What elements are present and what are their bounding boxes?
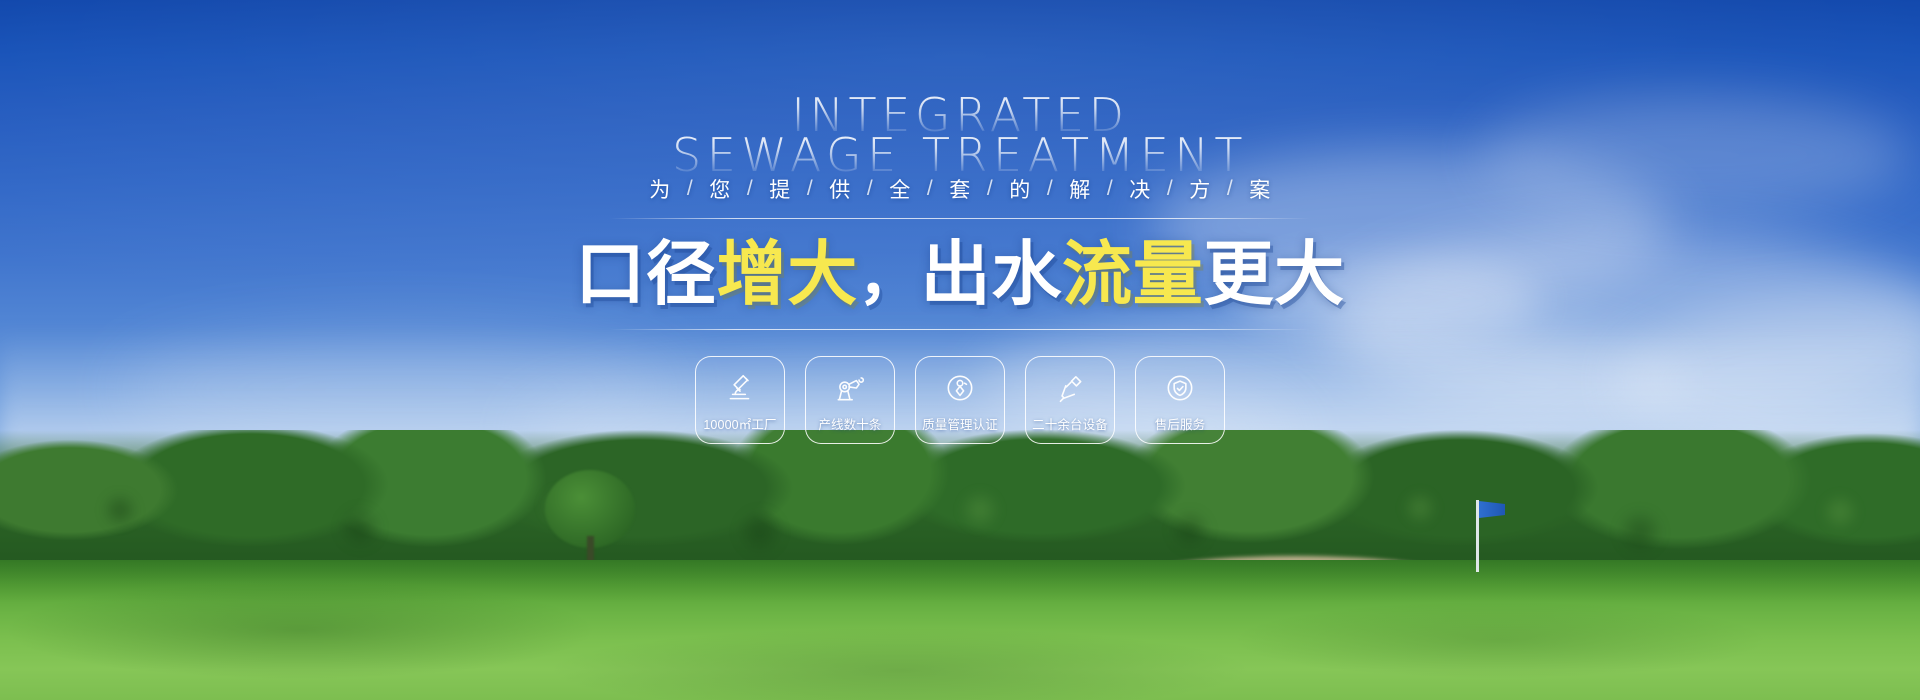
feature-badge-2[interactable]: 产线数十条 (805, 356, 895, 444)
feature-badge-1[interactable]: 10000㎡工厂 (695, 356, 785, 444)
feature-badge-4[interactable]: 二十余台设备 (1025, 356, 1115, 444)
hero-banner: INTEGRATED SEWAGE TREATMENT 为/您/提/供/全/套/… (0, 0, 1920, 700)
subtitle-char: 解 (1063, 174, 1097, 204)
subtitle-char: 套 (943, 174, 977, 204)
divider-bottom (610, 329, 1310, 330)
subtitle-separator: / (677, 177, 703, 201)
subtitle-char: 案 (1243, 174, 1277, 204)
subtitle-separator: / (1097, 177, 1123, 201)
subtitle-slashed-row: 为/您/提/供/全/套/的/解/决/方/案 (643, 174, 1277, 204)
subtitle-char: 供 (823, 174, 857, 204)
headline-segment: 流量 (1062, 237, 1203, 313)
subtitle-separator: / (1217, 177, 1243, 201)
subtitle-char: 方 (1183, 174, 1217, 204)
headline-segment: 更大 (1203, 237, 1344, 313)
subtitle-separator: / (857, 177, 883, 201)
page-title: 口径增大，出水流量更大 (575, 237, 1345, 313)
banner-copy: INTEGRATED SEWAGE TREATMENT 为/您/提/供/全/套/… (0, 0, 1920, 700)
subtitle-separator: / (797, 177, 823, 201)
shield-service-icon (1163, 371, 1197, 405)
subtitle-char: 为 (643, 174, 677, 204)
feature-badge-label: 售后服务 (1155, 414, 1206, 433)
subtitle-char: 决 (1123, 174, 1157, 204)
subtitle-separator: / (917, 177, 943, 201)
headline-segment: 增大 (717, 237, 858, 313)
feature-badge-5[interactable]: 售后服务 (1135, 356, 1225, 444)
feature-badge-list: 10000㎡工厂产线数十条质量管理认证二十余台设备售后服务 (695, 356, 1225, 444)
subtitle-separator: / (1037, 177, 1063, 201)
subtitle-separator: / (977, 177, 1003, 201)
feature-badge-3[interactable]: 质量管理认证 (915, 356, 1005, 444)
english-wordmark-line2: SEWAGE TREATMENT (672, 132, 1248, 178)
headline-segment: 出水 (921, 237, 1062, 313)
headline-segment: 口径 (575, 237, 716, 313)
feature-badge-label: 产线数十条 (818, 414, 881, 433)
headline-segment: ， (858, 244, 921, 311)
production-machine-icon (833, 371, 867, 405)
feature-badge-label: 10000㎡工厂 (703, 414, 776, 433)
subtitle-separator: / (737, 177, 763, 201)
certification-badge-icon (943, 371, 977, 405)
subtitle-separator: / (1157, 177, 1183, 201)
subtitle-char: 您 (703, 174, 737, 204)
subtitle-char: 提 (763, 174, 797, 204)
feature-badge-label: 二十余台设备 (1032, 414, 1108, 433)
subtitle-char: 全 (883, 174, 917, 204)
microscope-icon (723, 371, 757, 405)
english-wordmark: INTEGRATED SEWAGE TREATMENT (672, 92, 1248, 178)
feature-badge-label: 质量管理认证 (922, 414, 998, 433)
divider-top (610, 218, 1310, 219)
subtitle-char: 的 (1003, 174, 1037, 204)
equipment-tool-icon (1053, 371, 1087, 405)
